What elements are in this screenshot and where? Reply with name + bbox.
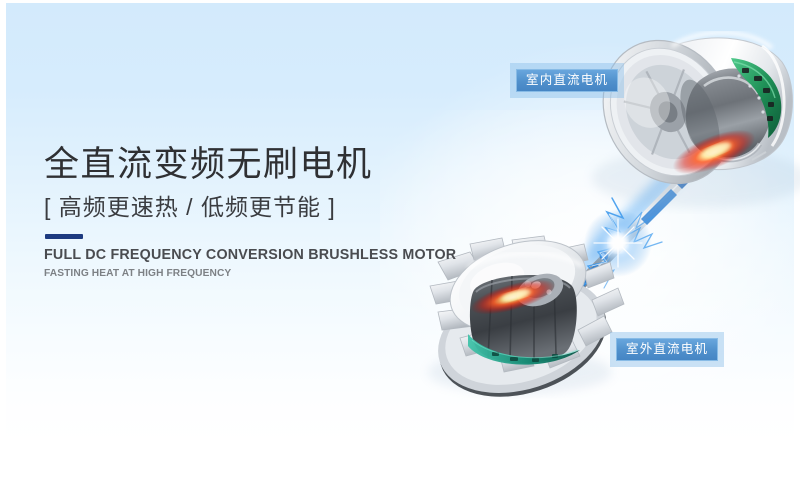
promo-banner: 全直流变频无刷电机 [ 高频更速热 / 低频更节能 ] FULL DC FREQ… [0,0,800,481]
page-title: 全直流变频无刷电机 [44,143,474,187]
label-indoor-dc-motor: 室内直流电机 [516,69,618,92]
english-subtitle: FASTING HEAT AT HIGH FREQUENCY [44,267,474,281]
accent-rule [45,234,83,239]
english-title: FULL DC FREQUENCY CONVERSION BRUSHLESS M… [44,246,474,264]
page-subtitle: [ 高频更速热 / 低频更节能 ] [44,191,474,223]
copy-block: 全直流变频无刷电机 [ 高频更速热 / 低频更节能 ] FULL DC FREQ… [44,143,474,281]
label-outdoor-dc-motor: 室外直流电机 [616,338,718,361]
